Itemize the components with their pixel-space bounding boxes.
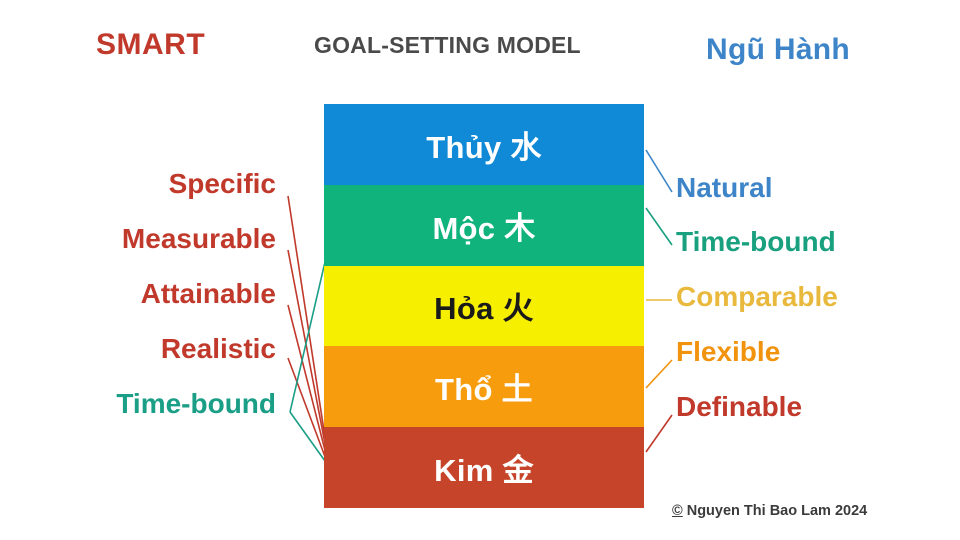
band-moc[interactable]: Mộc 木 <box>324 185 644 266</box>
band-label-moc: Mộc 木 <box>432 203 535 248</box>
smart-label-specific: Specific <box>169 168 276 200</box>
nguhanh-label-natural: Natural <box>676 172 772 204</box>
nguhanh-label-comparable: Comparable <box>676 281 838 313</box>
nguhanh-label-definable: Definable <box>676 391 802 423</box>
band-label-kim: Kim 金 <box>434 445 534 490</box>
band-hoa[interactable]: Hỏa 火 <box>324 266 644 347</box>
band-label-tho: Thổ 土 <box>435 364 533 409</box>
diagram-canvas: SMART GOAL-SETTING MODEL Ngũ Hành Thủy 水… <box>0 0 960 540</box>
credit-text: Nguyen Thi Bao Lam 2024 <box>683 503 868 519</box>
smart-label-attainable: Attainable <box>141 278 276 310</box>
smart-label-time-bound: Time-bound <box>116 388 276 420</box>
band-label-thuy: Thủy 水 <box>426 122 541 167</box>
band-label-hoa: Hỏa 火 <box>434 283 534 328</box>
heading-ngu-hanh: Ngũ Hành <box>706 33 850 67</box>
nguhanh-label-time-bound: Time-bound <box>676 226 836 258</box>
five-elements-stack: Thủy 水 Mộc 木 Hỏa 火 Thổ 土 Kim 金 <box>324 104 644 508</box>
heading-smart: SMART <box>96 28 205 62</box>
band-thuy[interactable]: Thủy 水 <box>324 104 644 185</box>
copyright-icon: © <box>672 503 683 519</box>
nguhanh-label-flexible: Flexible <box>676 336 780 368</box>
copyright-credit: © Nguyen Thi Bao Lam 2024 <box>672 503 867 519</box>
page-title: GOAL-SETTING MODEL <box>314 32 581 59</box>
band-tho[interactable]: Thổ 土 <box>324 346 644 427</box>
band-kim[interactable]: Kim 金 <box>324 427 644 508</box>
smart-label-realistic: Realistic <box>161 333 276 365</box>
smart-label-measurable: Measurable <box>122 223 276 255</box>
